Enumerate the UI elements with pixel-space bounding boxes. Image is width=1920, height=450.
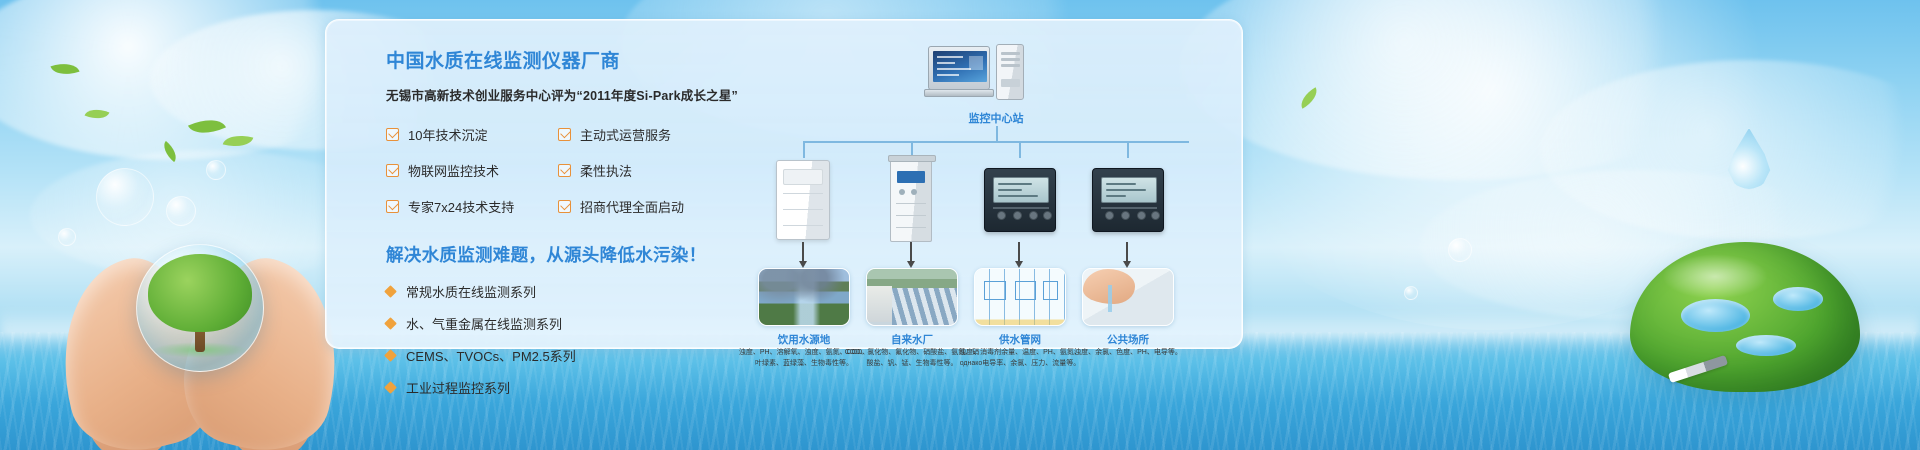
product-series-list: 常规水质在线监测系列 水、气重金属在线监测系列 CEMS、TVOCs、PM2.5…: [386, 282, 746, 397]
monitoring-center-label: 监控中心站: [906, 110, 1086, 126]
analyzer-rack-icon: [890, 158, 932, 242]
scene-thumbnail: [1082, 268, 1174, 326]
list-item-label: 常规水质在线监测系列: [406, 282, 536, 301]
device-illustration: [866, 158, 958, 240]
page-subtitle: 无锡市高新技术创业服务中心评为“2011年度Si-Park成长之星”: [386, 85, 746, 104]
checklist-item: 10年技术沉淀: [386, 125, 558, 144]
earth-lake: [1773, 287, 1824, 311]
connector-line: [996, 126, 998, 142]
page-title: 中国水质在线监测仪器厂商: [386, 46, 746, 73]
tree-canopy: [148, 254, 252, 332]
device-row: 饮用水源地 浊度、PH、溶解氧、浊度、氨氮、COD、叶绿素、蓝绿藻、生物毒性等。: [756, 142, 1226, 342]
feature-checklist: 10年技术沉淀 主动式运营服务 物联网监控技术 柔性执法 专家7x24技术支持 …: [386, 125, 746, 216]
controller-instrument-icon: [984, 168, 1056, 232]
lcd-display: [993, 177, 1049, 203]
diamond-bullet-icon: [384, 317, 397, 330]
connector-line: [803, 142, 805, 158]
list-item: 常规水质在线监测系列: [386, 282, 746, 301]
desktop-tower-icon: [996, 44, 1024, 100]
flow-arrow-icon: [910, 242, 912, 262]
checklist-item: 招商代理全面启动: [558, 197, 746, 216]
scene-thumbnail: [866, 268, 958, 326]
diamond-bullet-icon: [384, 285, 397, 298]
monitor-stand: [924, 89, 994, 97]
list-item: 工业过程监控系列: [386, 378, 746, 397]
connector-line: [1127, 142, 1129, 158]
checklist-item-label: 10年技术沉淀: [408, 125, 487, 144]
controller-instrument-icon: [1092, 168, 1164, 232]
bubble: [1404, 286, 1418, 300]
checklist-item-label: 物联网监控技术: [408, 161, 499, 180]
node-parameters: 浊度、余氯、色度、PH、电导等。: [1060, 348, 1196, 359]
checklist-item: 物联网监控技术: [386, 161, 558, 180]
bubble: [206, 160, 226, 180]
checklist-item-label: 专家7x24技术支持: [408, 197, 514, 216]
lcd-display: [1101, 177, 1157, 203]
checkbox-checked-icon: [558, 164, 571, 177]
list-item: 水、气重金属在线监测系列: [386, 314, 746, 333]
checklist-item: 柔性执法: [558, 161, 746, 180]
diamond-bullet-icon: [384, 349, 397, 362]
earth-highlight: [1662, 254, 1768, 299]
diamond-bullet-icon: [384, 381, 397, 394]
connector-line: [1019, 142, 1021, 158]
list-item: CEMS、TVOCs、PM2.5系列: [386, 346, 746, 365]
scene-thumbnail: [974, 268, 1066, 326]
checkbox-checked-icon: [558, 200, 571, 213]
list-item-label: 工业过程监控系列: [406, 378, 510, 397]
checklist-item-label: 柔性执法: [580, 161, 632, 180]
checklist-item: 专家7x24技术支持: [386, 197, 558, 216]
hands-holding-tree-illustration: [60, 220, 340, 450]
checklist-item-label: 招商代理全面启动: [580, 197, 684, 216]
flow-arrow-icon: [1018, 242, 1020, 262]
checklist-item: 主动式运营服务: [558, 125, 746, 144]
device-illustration: [758, 158, 850, 240]
node-title: 公共场所: [1062, 332, 1194, 347]
earth-lake: [1681, 299, 1750, 332]
device-illustration: [974, 158, 1066, 240]
bubble: [96, 168, 154, 226]
content-panel: 中国水质在线监测仪器厂商 无锡市高新技术创业服务中心评为“2011年度Si-Pa…: [325, 19, 1243, 349]
flow-arrow-icon: [802, 242, 804, 262]
monitor-screen: [933, 51, 987, 82]
green-earth-illustration: [1630, 242, 1860, 392]
checkbox-checked-icon: [558, 128, 571, 141]
section-title: 解决水质监测难题，从源头降低水污染！: [386, 242, 746, 267]
list-item-label: 水、气重金属在线监测系列: [406, 314, 562, 333]
monitor-icon: [928, 46, 990, 90]
bubble: [1448, 238, 1472, 262]
checkbox-checked-icon: [386, 128, 399, 141]
scene-thumbnail: [758, 268, 850, 326]
flow-arrow-icon: [1126, 242, 1128, 262]
checkbox-checked-icon: [386, 164, 399, 177]
list-item-label: CEMS、TVOCs、PM2.5系列: [406, 346, 576, 365]
checkbox-checked-icon: [386, 200, 399, 213]
device-illustration: [1082, 158, 1174, 240]
monitoring-center-computer: [928, 44, 1058, 106]
checklist-item-label: 主动式运营服务: [580, 125, 671, 144]
analyzer-cabinet-icon: [776, 160, 830, 240]
panel-left-column: 中国水质在线监测仪器厂商 无锡市高新技术创业服务中心评为“2011年度Si-Pa…: [386, 46, 746, 397]
earth-lake: [1736, 335, 1796, 356]
system-diagram: 监控中心站: [756, 34, 1226, 344]
